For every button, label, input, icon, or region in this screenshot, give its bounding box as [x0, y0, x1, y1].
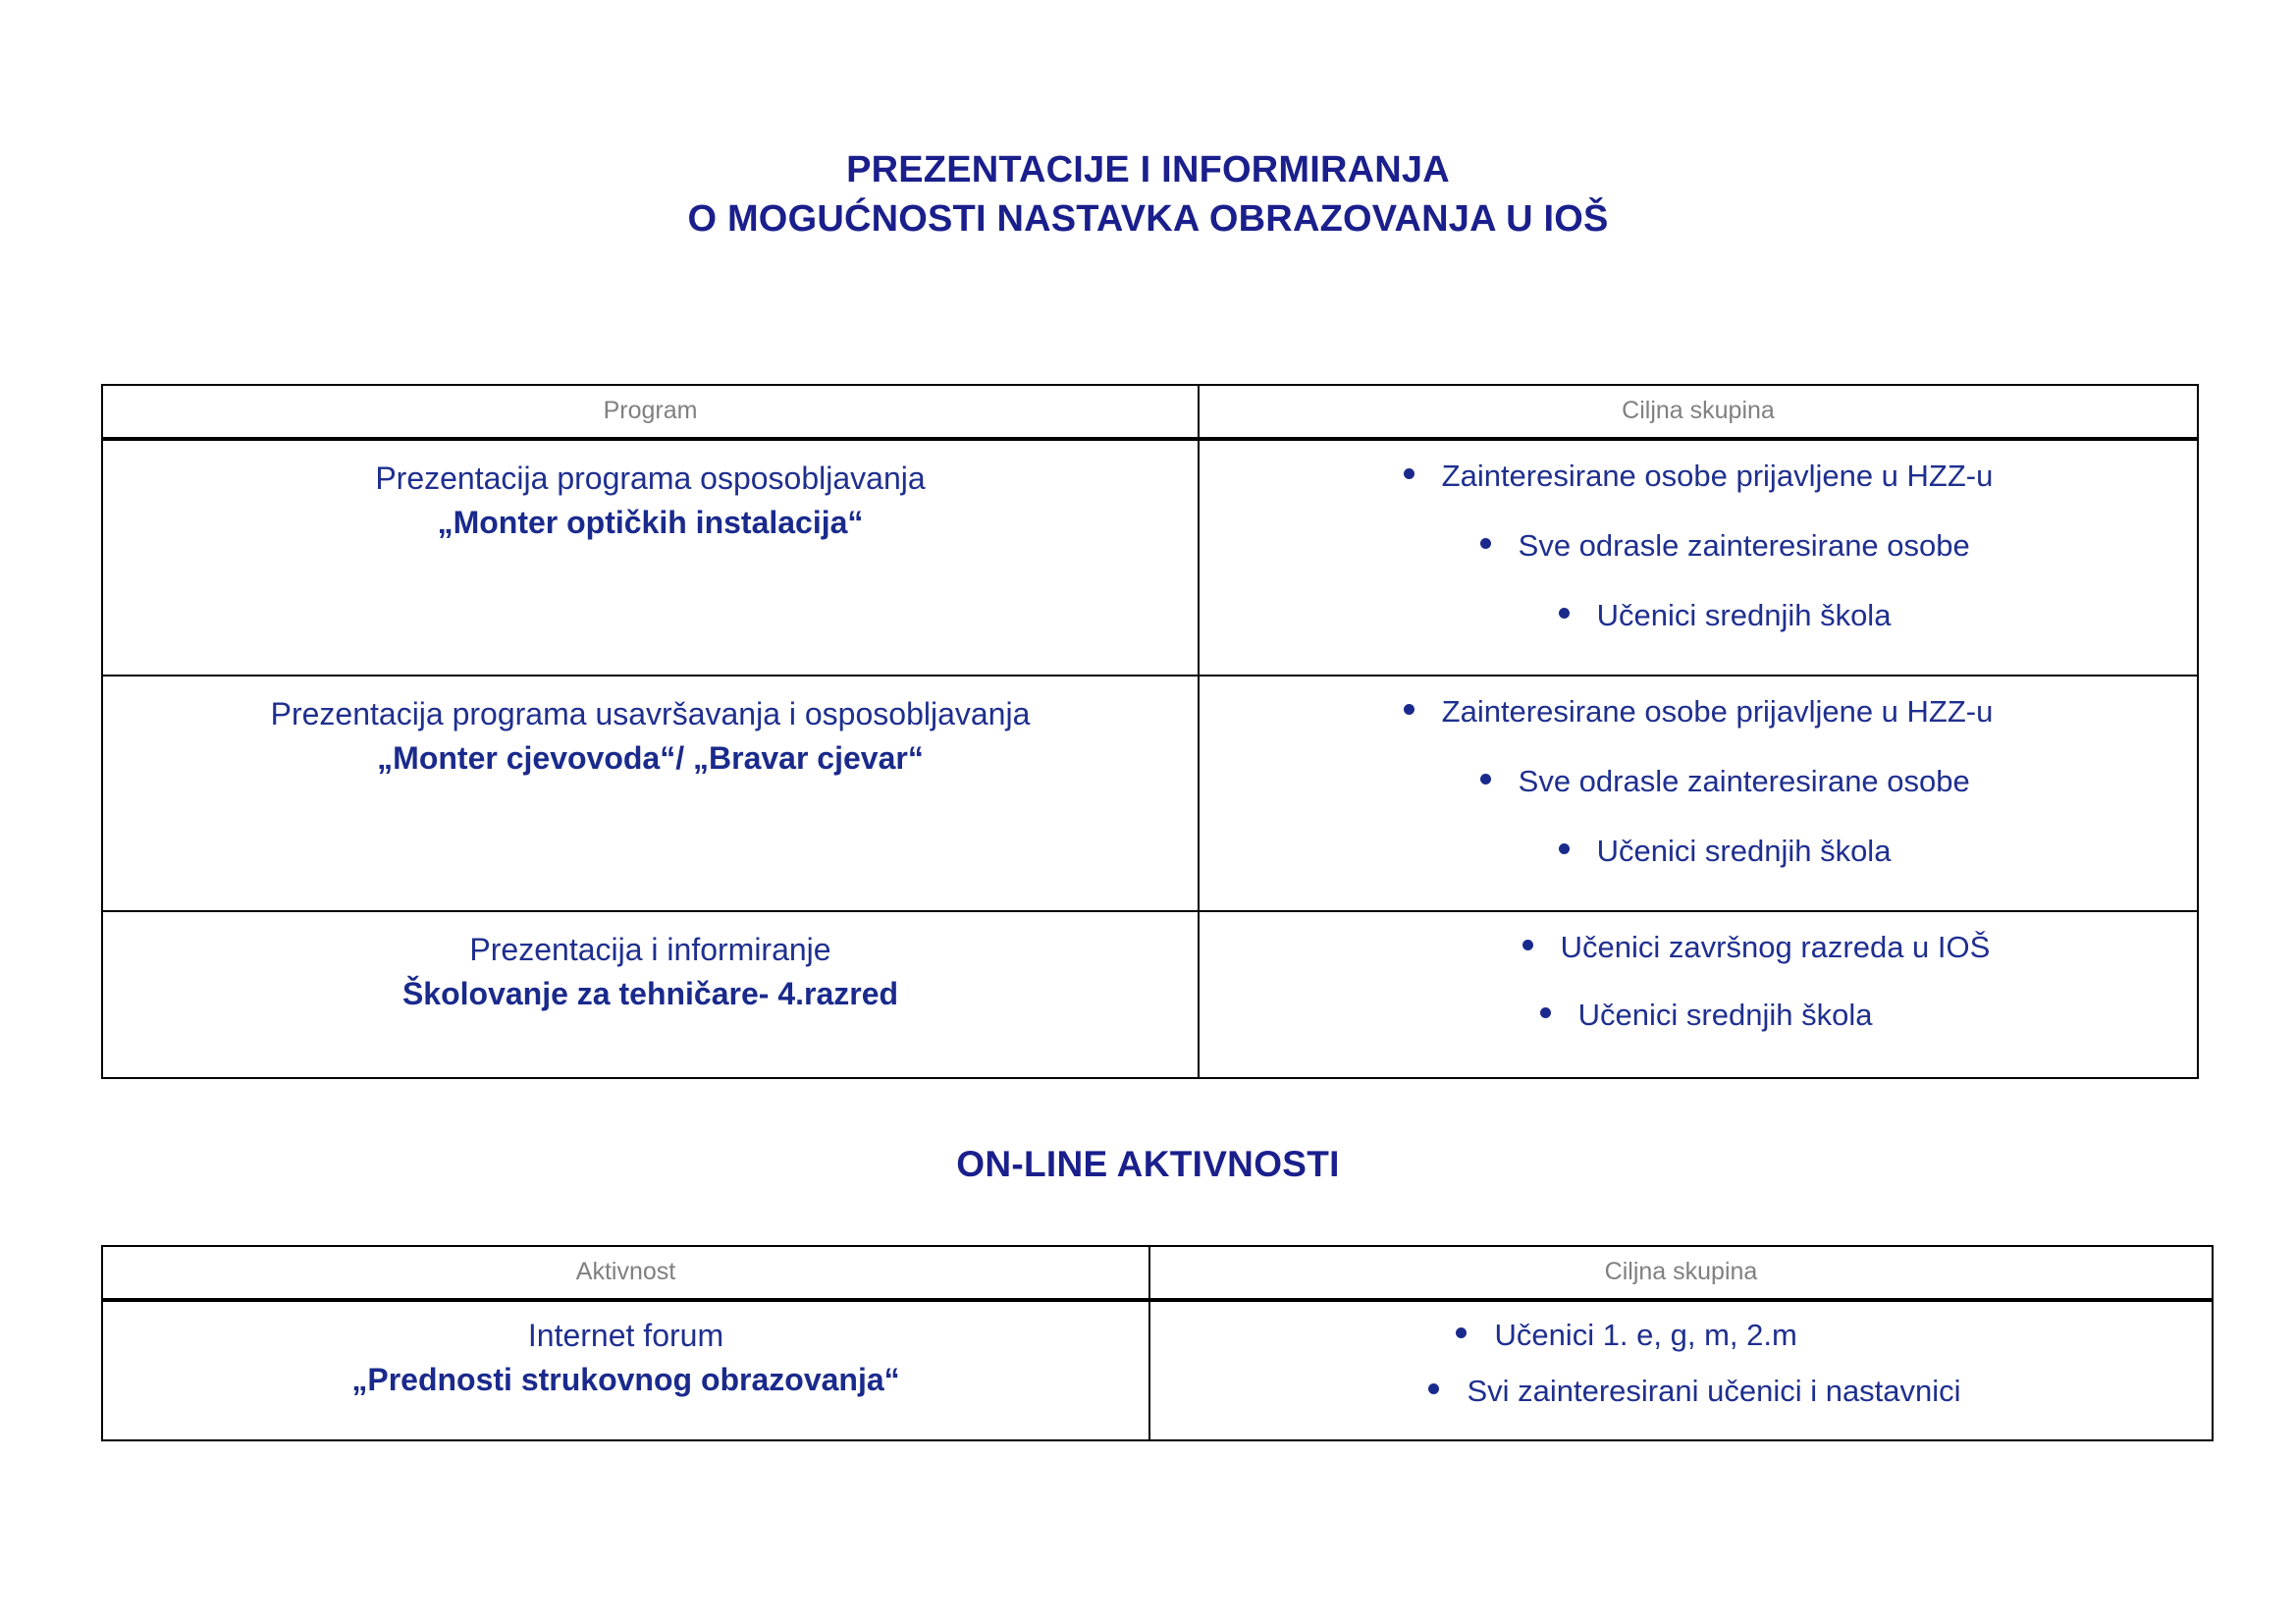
program-cell: Prezentacija programa osposobljavanja „M… [102, 439, 1199, 676]
list-item: Učenici 1. e, g, m, 2.m [1401, 1314, 1960, 1358]
bullet-icon [1559, 608, 1570, 619]
target-group-list: Učenici završnog razreda u IOŠ Učenici s… [1407, 926, 1991, 1061]
bullet-icon [1404, 468, 1415, 479]
list-item: Učenici srednjih škola [1404, 594, 1994, 638]
program-name: „Monter optičkih instalacija“ [113, 501, 1188, 545]
list-item-label: Učenici 1. e, g, m, 2.m [1494, 1318, 1796, 1352]
target-group-cell: Zainteresirane osobe prijavljene u HZZ-u… [1199, 676, 2198, 911]
table-header-row: Aktivnost Ciljna skupina [102, 1246, 2213, 1300]
bullet-icon [1428, 1383, 1439, 1394]
list-item: Učenici završnog razreda u IOŠ [1407, 926, 1991, 970]
list-item: Zainteresirane osobe prijavljene u HZZ-u [1404, 690, 1994, 734]
program-cell: Prezentacija programa usavršavanja i osp… [102, 676, 1199, 911]
bullet-icon [1522, 940, 1533, 950]
activity-description: Internet forum [113, 1314, 1139, 1358]
list-item-label: Učenici srednjih škola [1597, 834, 1892, 868]
table-row: Prezentacija programa osposobljavanja „M… [102, 439, 2198, 676]
list-item-label: Zainteresirane osobe prijavljene u HZZ-u [1442, 459, 1994, 493]
table-row: Internet forum „Prednosti strukovnog obr… [102, 1300, 2213, 1440]
program-name: Školovanje za tehničare- 4.razred [113, 972, 1188, 1016]
column-header-target-group: Ciljna skupina [1149, 1246, 2213, 1300]
list-item: Učenici srednjih škola [1407, 994, 1991, 1038]
target-group-cell: Učenici završnog razreda u IOŠ Učenici s… [1199, 911, 2198, 1078]
program-description: Prezentacija programa usavršavanja i osp… [113, 692, 1188, 736]
program-cell: Prezentacija i informiranje Školovanje z… [102, 911, 1199, 1078]
programs-table: Program Ciljna skupina Prezentacija prog… [101, 384, 2199, 1079]
bullet-icon [1540, 1007, 1551, 1018]
program-description: Prezentacija programa osposobljavanja [113, 457, 1188, 501]
target-group-list: Učenici 1. e, g, m, 2.m Svi zainteresira… [1401, 1314, 1960, 1426]
list-item-label: Učenici srednjih škola [1578, 998, 1873, 1032]
bullet-icon [1480, 774, 1491, 785]
column-header-program: Program [102, 385, 1199, 439]
list-item: Učenici srednjih škola [1404, 830, 1994, 874]
program-name: „Monter cjevovoda“/ „Bravar cjevar“ [113, 736, 1188, 781]
list-item-label: Sve odrasle zainteresirane osobe [1519, 528, 1970, 563]
column-header-activity: Aktivnost [102, 1246, 1149, 1300]
bullet-icon [1456, 1327, 1467, 1338]
list-item-label: Svi zainteresirani učenici i nastavnici [1467, 1374, 1960, 1408]
bullet-icon [1480, 538, 1491, 549]
target-group-list: Zainteresirane osobe prijavljene u HZZ-u… [1404, 690, 1994, 874]
list-item: Zainteresirane osobe prijavljene u HZZ-u [1404, 455, 1994, 499]
target-group-list: Zainteresirane osobe prijavljene u HZZ-u… [1404, 455, 1994, 638]
bullet-icon [1404, 704, 1415, 715]
activity-name: „Prednosti strukovnog obrazovanja“ [113, 1358, 1139, 1402]
list-item: Svi zainteresirani učenici i nastavnici [1401, 1370, 1960, 1414]
target-group-cell: Zainteresirane osobe prijavljene u HZZ-u… [1199, 439, 2198, 676]
program-description: Prezentacija i informiranje [113, 928, 1188, 972]
table-row: Prezentacija i informiranje Školovanje z… [102, 911, 2198, 1078]
list-item: Sve odrasle zainteresirane osobe [1404, 760, 1994, 804]
activity-cell: Internet forum „Prednosti strukovnog obr… [102, 1300, 1149, 1440]
page-title-line-2: O MOGUĆNOSTI NASTAVKA OBRAZOVANJA U IOŠ [0, 194, 2296, 244]
list-item: Sve odrasle zainteresirane osobe [1404, 524, 1994, 568]
list-item-label: Učenici završnog razreda u IOŠ [1561, 930, 1991, 964]
target-group-cell: Učenici 1. e, g, m, 2.m Svi zainteresira… [1149, 1300, 2213, 1440]
table-row: Prezentacija programa usavršavanja i osp… [102, 676, 2198, 911]
bullet-icon [1559, 843, 1570, 854]
table-header-row: Program Ciljna skupina [102, 385, 2198, 439]
document-page: PREZENTACIJE I INFORMIRANJA O MOGUĆNOSTI… [0, 0, 2296, 1624]
list-item-label: Sve odrasle zainteresirane osobe [1519, 764, 1970, 798]
online-activities-table: Aktivnost Ciljna skupina Internet forum … [101, 1245, 2214, 1441]
list-item-label: Zainteresirane osobe prijavljene u HZZ-u [1442, 694, 1994, 729]
page-title-line-1: PREZENTACIJE I INFORMIRANJA [0, 145, 2296, 194]
column-header-target-group: Ciljna skupina [1199, 385, 2198, 439]
page-title: PREZENTACIJE I INFORMIRANJA O MOGUĆNOSTI… [0, 145, 2296, 244]
list-item-label: Učenici srednjih škola [1597, 598, 1892, 632]
section-title-online-activities: ON-LINE AKTIVNOSTI [0, 1144, 2296, 1185]
